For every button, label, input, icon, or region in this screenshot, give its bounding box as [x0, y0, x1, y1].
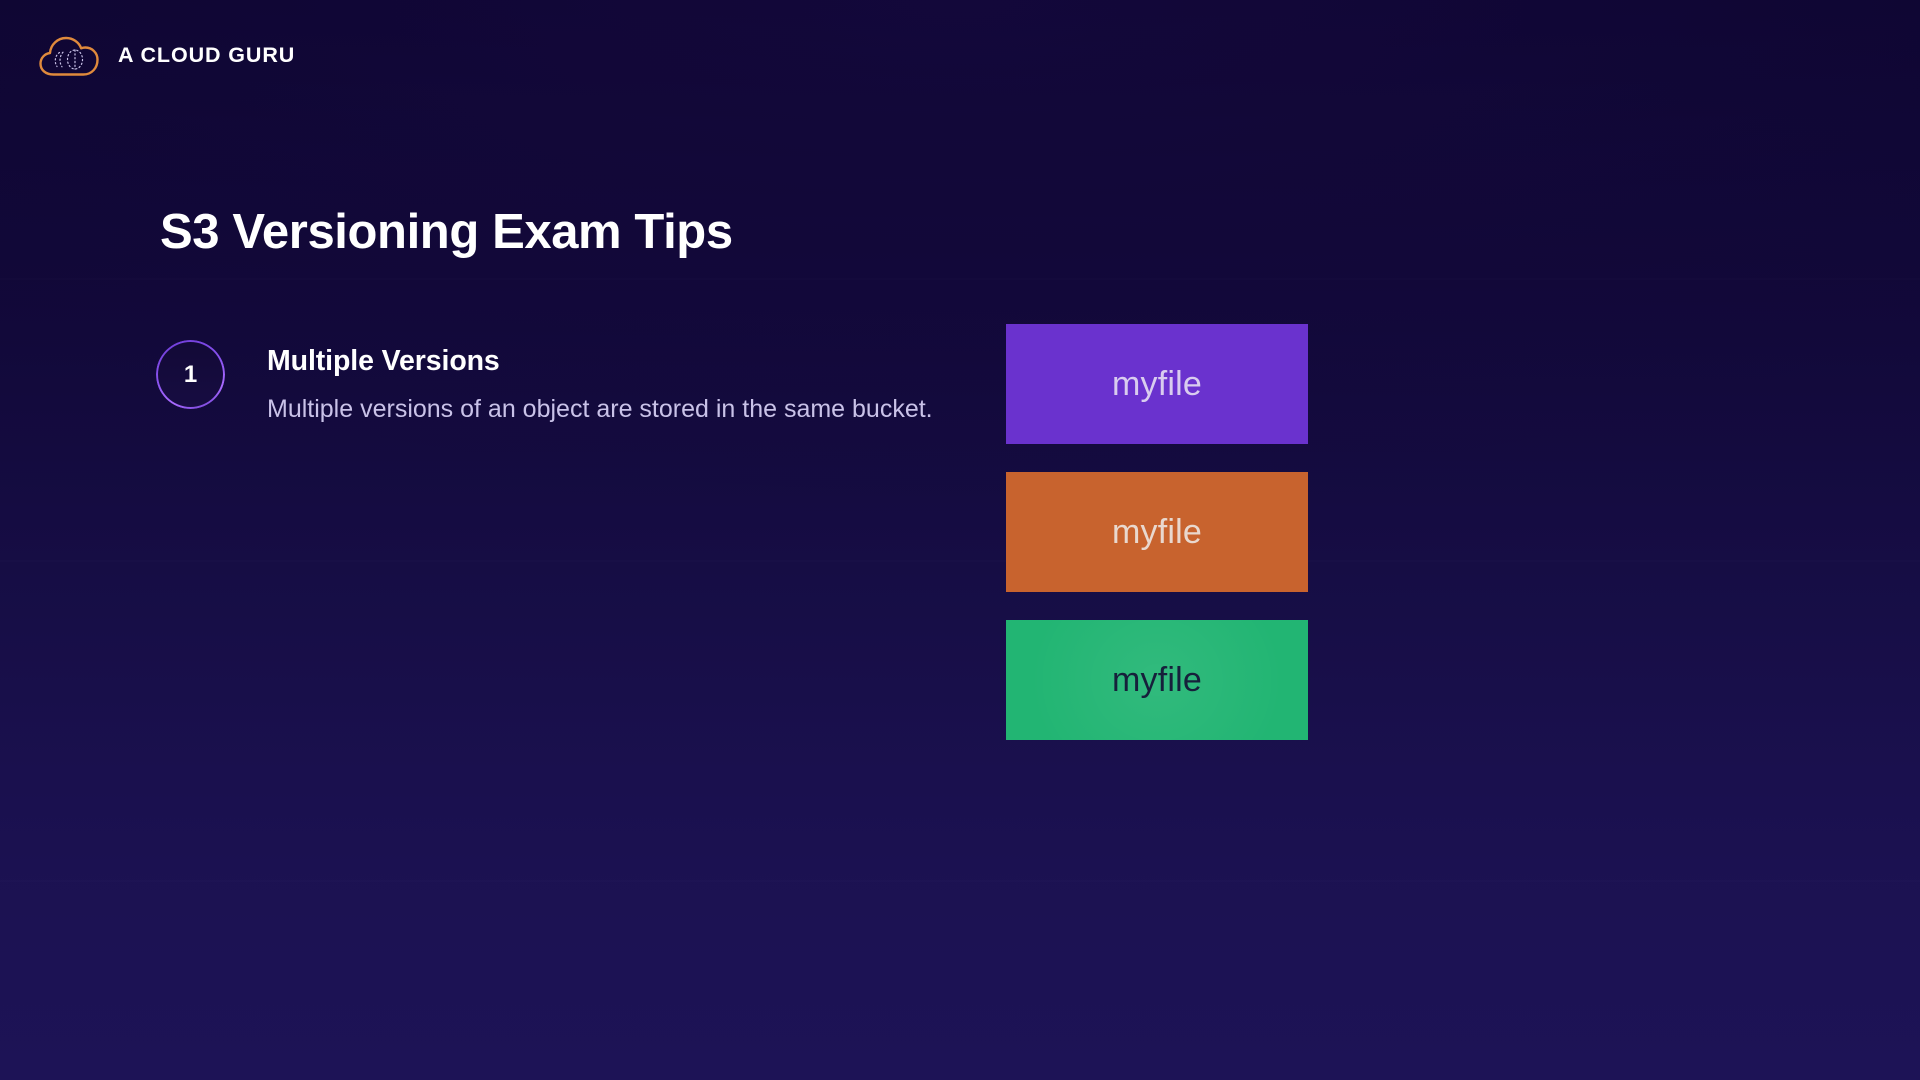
- background-sheen-band: [0, 278, 1920, 280]
- cloud-icon: [38, 35, 104, 77]
- tip-content: Multiple Versions Multiple versions of a…: [267, 340, 933, 426]
- version-box: myfile: [1006, 324, 1308, 444]
- version-stack: myfile myfile myfile: [1006, 324, 1308, 740]
- brand-logo: A CLOUD GURU: [38, 35, 295, 77]
- tip-number: 1: [184, 363, 197, 387]
- tip-heading: Multiple Versions: [267, 344, 933, 378]
- version-box: myfile: [1006, 620, 1308, 740]
- version-box-label: myfile: [1112, 515, 1202, 549]
- brand-name: A CLOUD GURU: [118, 45, 295, 67]
- background-sheen-band: [0, 560, 1920, 562]
- version-box-label: myfile: [1112, 663, 1202, 697]
- page-title: S3 Versioning Exam Tips: [160, 205, 733, 260]
- version-box-label: myfile: [1112, 367, 1202, 401]
- version-box: myfile: [1006, 472, 1308, 592]
- tip-description: Multiple versions of an object are store…: [267, 392, 933, 426]
- tip-number-badge: 1: [156, 340, 225, 409]
- slide-canvas: A CLOUD GURU S3 Versioning Exam Tips 1 M…: [0, 0, 1920, 1080]
- tip-item: 1 Multiple Versions Multiple versions of…: [156, 340, 933, 426]
- background-sheen-band: [0, 880, 1920, 882]
